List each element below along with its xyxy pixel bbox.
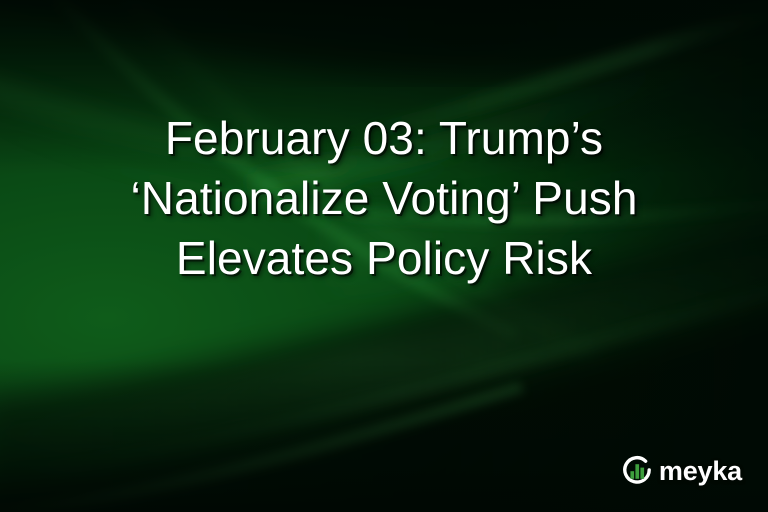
title-line-2: ‘Nationalize Voting’ Push — [40, 168, 728, 228]
slide-title: February 03: Trump’s ‘Nationalize Voting… — [0, 108, 768, 288]
news-title-slide: February 03: Trump’s ‘Nationalize Voting… — [0, 0, 768, 512]
brand-wordmark: meyka — [659, 458, 742, 485]
title-line-3: Elevates Policy Risk — [40, 228, 728, 288]
brand-logo[interactable]: meyka — [620, 454, 742, 488]
title-line-1: February 03: Trump’s — [40, 108, 728, 168]
meyka-bar-chart-ring-icon — [620, 454, 654, 488]
